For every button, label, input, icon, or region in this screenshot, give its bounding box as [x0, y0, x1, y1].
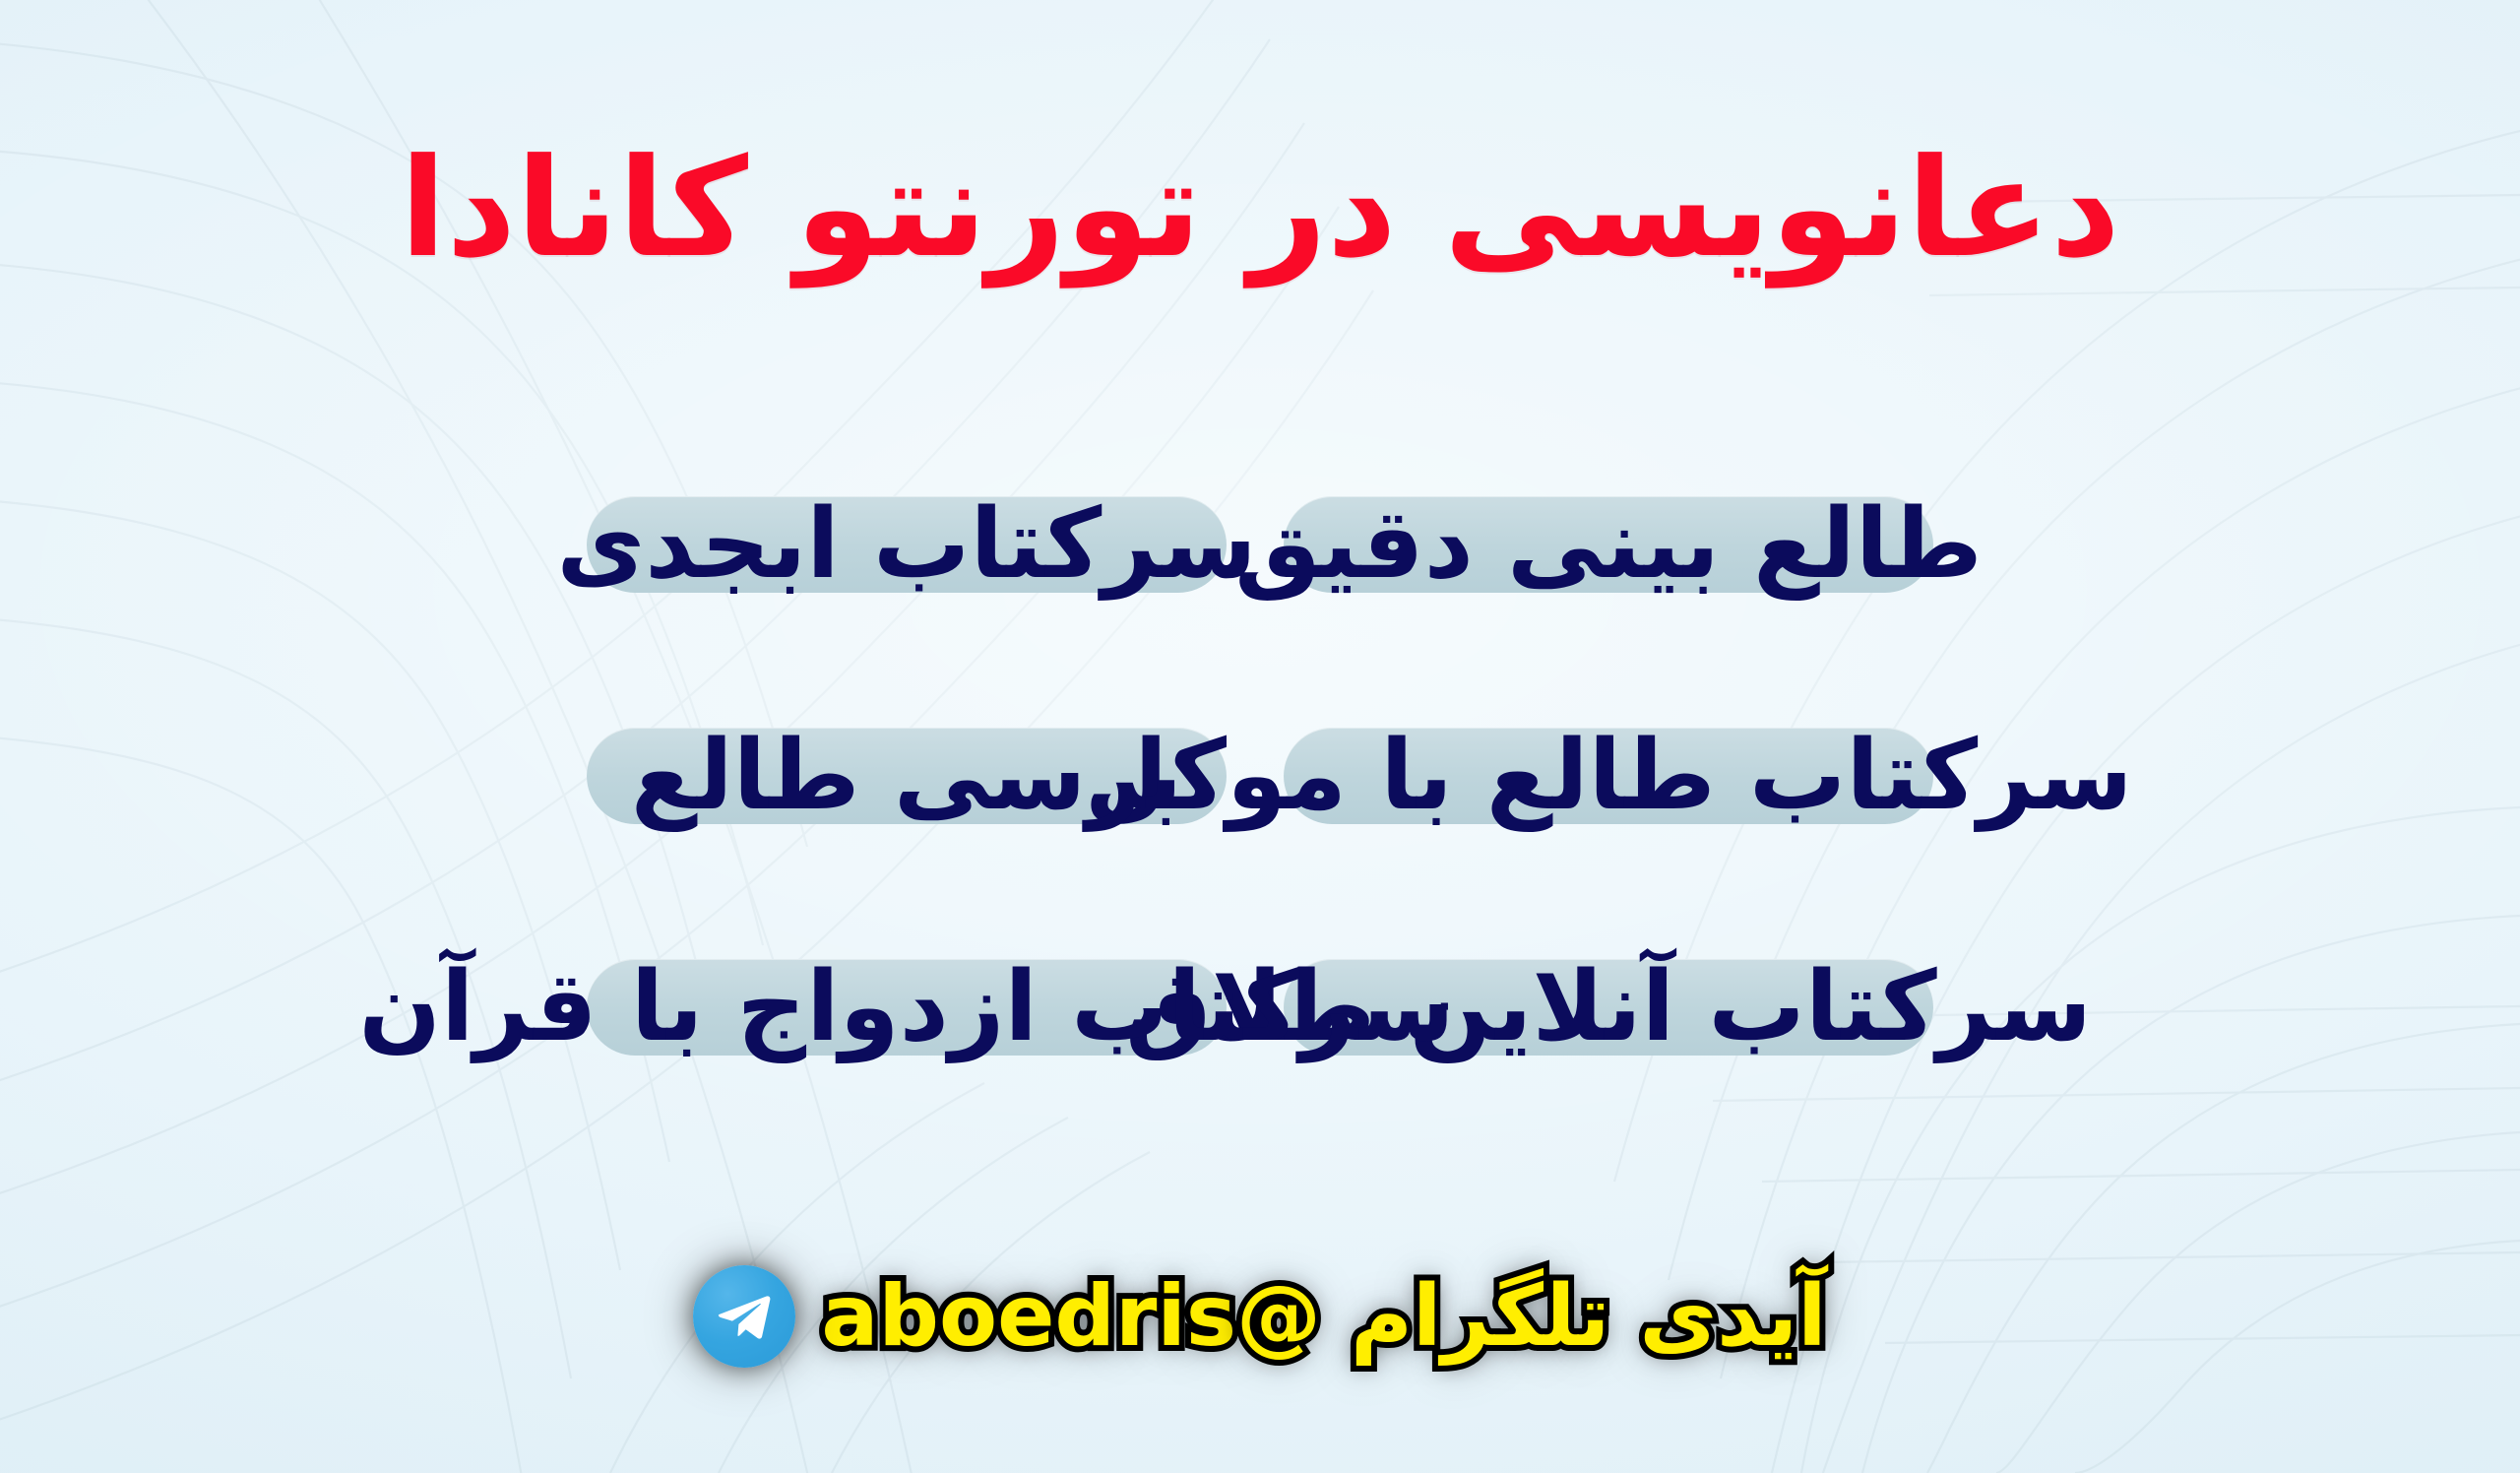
telegram-handle-text: آیدی تلگرام @aboedris	[821, 1274, 1826, 1359]
service-pill-label: سرکتاب طالع با موکل	[1085, 728, 2133, 824]
service-pill-label: سرکتاب ازدواج با قرآن	[358, 959, 1454, 1056]
service-row-3: سرکتاب آنلاین طلاق سرکتاب ازدواج با قرآن	[0, 933, 2520, 1081]
service-pill-marriage-quran-serketab[interactable]: سرکتاب ازدواج با قرآن	[587, 959, 1227, 1056]
service-pill-grid: طالع بینی دقیق سرکتاب ابجدی سرکتاب طالع …	[0, 463, 2520, 1152]
telegram-icon[interactable]	[693, 1265, 795, 1368]
service-pill-fortune-review[interactable]: برسی طالع	[587, 728, 1227, 824]
service-row-2: سرکتاب طالع با موکل برسی طالع	[0, 702, 2520, 850]
page-title: دعانویسی در تورنتو کانادا	[0, 138, 2520, 281]
service-pill-serketab-with-movakel[interactable]: سرکتاب طالع با موکل	[1284, 728, 1933, 824]
service-pill-abjad-serketab[interactable]: سرکتاب ابجدی	[587, 496, 1227, 593]
service-pill-label: سرکتاب ابجدی	[556, 496, 1256, 593]
service-pill-label: طالع بینی دقیق	[1234, 496, 1983, 593]
telegram-contact-bar[interactable]: آیدی تلگرام @aboedris	[0, 1233, 2520, 1400]
poster-canvas: دعانویسی در تورنتو کانادا طالع بینی دقیق…	[0, 0, 2520, 1473]
service-row-1: طالع بینی دقیق سرکتاب ابجدی	[0, 471, 2520, 618]
service-pill-label: برسی طالع	[631, 728, 1182, 824]
service-pill-accurate-horoscope[interactable]: طالع بینی دقیق	[1284, 496, 1933, 593]
